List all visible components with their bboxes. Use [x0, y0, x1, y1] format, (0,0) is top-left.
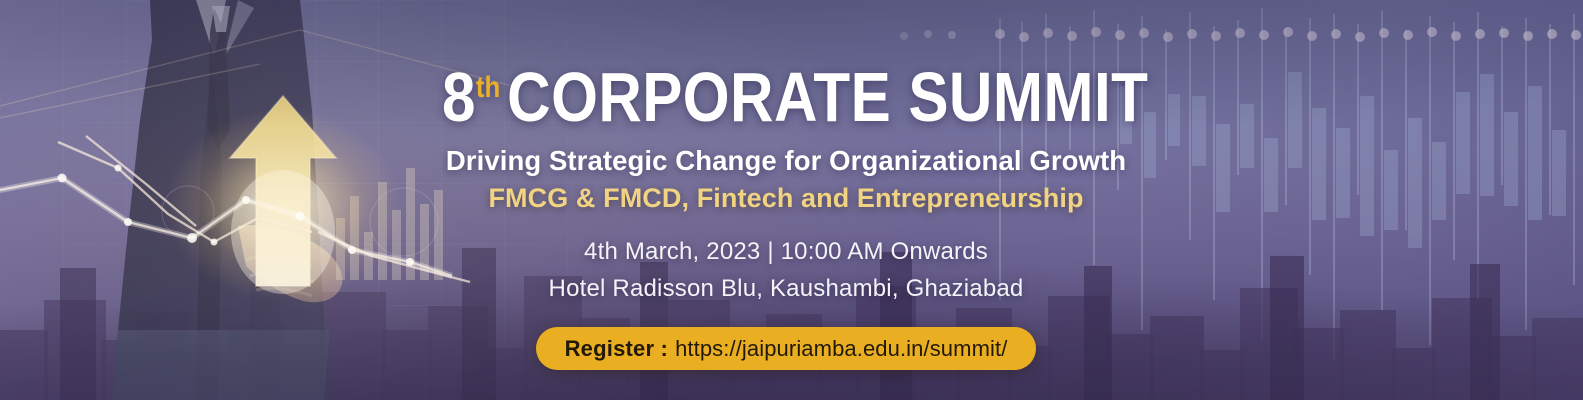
register-url: https://jaipuriamba.edu.in/summit/: [675, 336, 1007, 362]
register-label: Register :: [565, 336, 668, 362]
event-tagline: Driving Strategic Change for Organizatio…: [386, 131, 1186, 177]
title-main: CORPORATE SUMMIT: [507, 58, 1148, 136]
page-title: 8thCORPORATE SUMMIT: [442, 0, 1130, 131]
cta-container: Register :https://jaipuriamba.edu.in/sum…: [386, 303, 1186, 370]
text-column: 8thCORPORATE SUMMIT Driving Strategic Ch…: [386, 0, 1186, 370]
title-ordinal-suffix: th: [476, 71, 500, 104]
register-button[interactable]: Register :https://jaipuriamba.edu.in/sum…: [536, 327, 1037, 370]
event-sectors: FMCG & FMCD, Fintech and Entrepreneurshi…: [386, 177, 1186, 214]
title-ordinal-number: 8: [442, 58, 476, 136]
corporate-summit-banner: 8thCORPORATE SUMMIT Driving Strategic Ch…: [0, 0, 1583, 400]
event-venue: Hotel Radisson Blu, Kaushambi, Ghaziabad: [386, 266, 1186, 303]
event-datetime: 4th March, 2023 | 10:00 AM Onwards: [386, 214, 1186, 266]
